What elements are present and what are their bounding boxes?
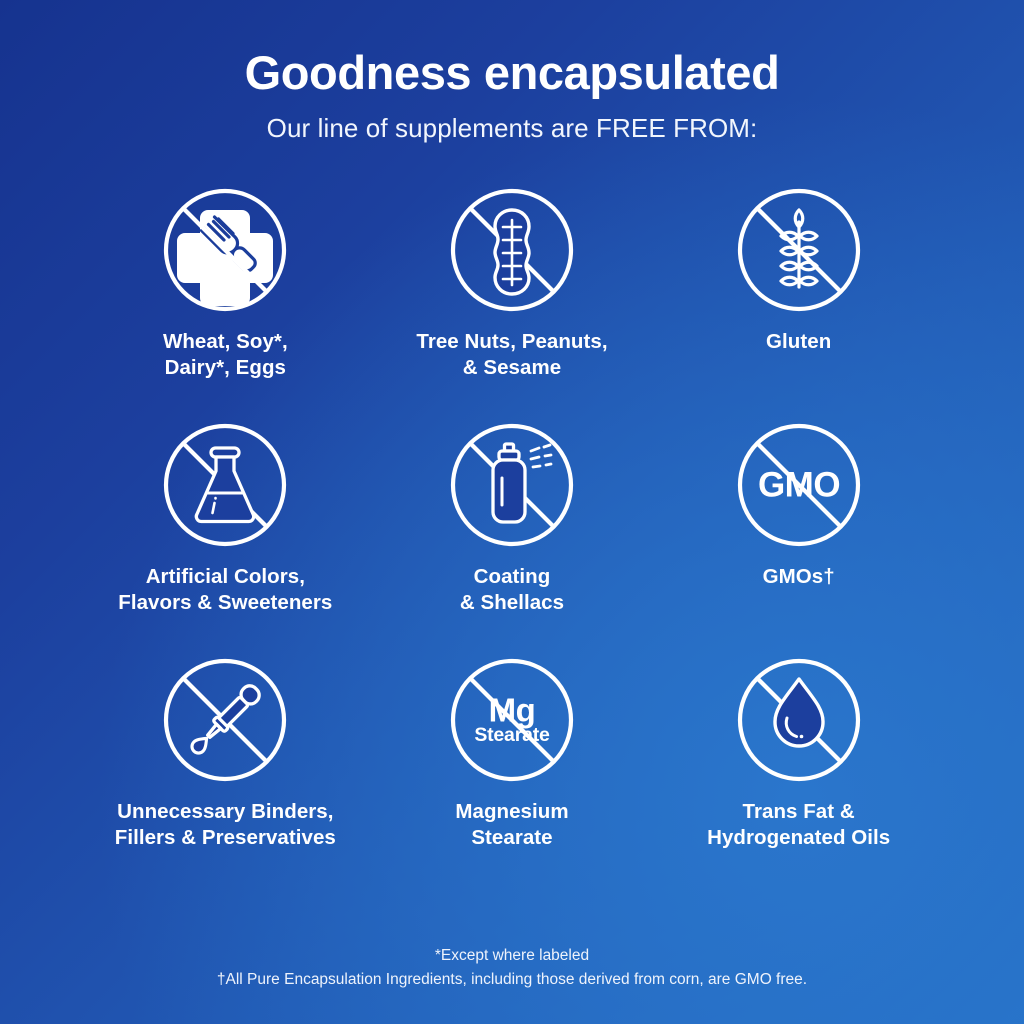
mg-inner-label: Mg — [489, 692, 536, 729]
infographic-page: Goodness encapsulated Our line of supple… — [0, 0, 1024, 1024]
free-from-item-label: Coating & Shellacs — [460, 564, 564, 615]
free-from-item-label: Gluten — [766, 329, 831, 354]
page-subtitle: Our line of supplements are FREE FROM: — [0, 113, 1024, 144]
free-from-item-label: Unnecessary Binders, Fillers & Preservat… — [115, 799, 336, 850]
free-from-item: GMO GMOs† — [655, 421, 942, 656]
no-wheat-stalk-icon — [735, 186, 863, 314]
no-dropper-icon — [161, 656, 289, 784]
no-allergens-cross-fork-icon — [161, 186, 289, 314]
no-spray-can-icon — [448, 421, 576, 549]
no-peanut-icon — [448, 186, 576, 314]
free-from-item-label: Magnesium Stearate — [455, 799, 568, 850]
free-from-item-label: Tree Nuts, Peanuts, & Sesame — [416, 329, 607, 380]
free-from-item: Unnecessary Binders, Fillers & Preservat… — [82, 656, 369, 891]
free-from-item-label: GMOs† — [763, 564, 835, 589]
free-from-item-label: Wheat, Soy*, Dairy*, Eggs — [163, 329, 288, 380]
free-from-item: Trans Fat & Hydrogenated Oils — [655, 656, 942, 891]
no-oil-droplet-icon — [735, 656, 863, 784]
free-from-item: Mg Stearate Magnesium Stearate — [369, 656, 656, 891]
free-from-item: Tree Nuts, Peanuts, & Sesame — [369, 186, 656, 421]
footnotes: *Except where labeled †All Pure Encapsul… — [0, 944, 1024, 992]
footnote-asterisk: *Except where labeled — [0, 944, 1024, 968]
header: Goodness encapsulated Our line of supple… — [0, 0, 1024, 144]
free-from-item-label: Artificial Colors, Flavors & Sweeteners — [118, 564, 332, 615]
free-from-item: Coating & Shellacs — [369, 421, 656, 656]
stearate-inner-label: Stearate — [474, 724, 550, 746]
free-from-item: Gluten — [655, 186, 942, 421]
no-gmo-icon: GMO — [735, 421, 863, 549]
free-from-item-label: Trans Fat & Hydrogenated Oils — [707, 799, 890, 850]
free-from-grid: Wheat, Soy*, Dairy*, Eggs — [82, 186, 942, 891]
free-from-item: Artificial Colors, Flavors & Sweeteners — [82, 421, 369, 656]
no-magnesium-stearate-icon: Mg Stearate — [448, 656, 576, 784]
free-from-item: Wheat, Soy*, Dairy*, Eggs — [82, 186, 369, 421]
gmo-inner-label: GMO — [758, 466, 840, 505]
footnote-dagger: †All Pure Encapsulation Ingredients, inc… — [0, 968, 1024, 992]
no-flask-icon — [161, 421, 289, 549]
page-title: Goodness encapsulated — [0, 48, 1024, 97]
